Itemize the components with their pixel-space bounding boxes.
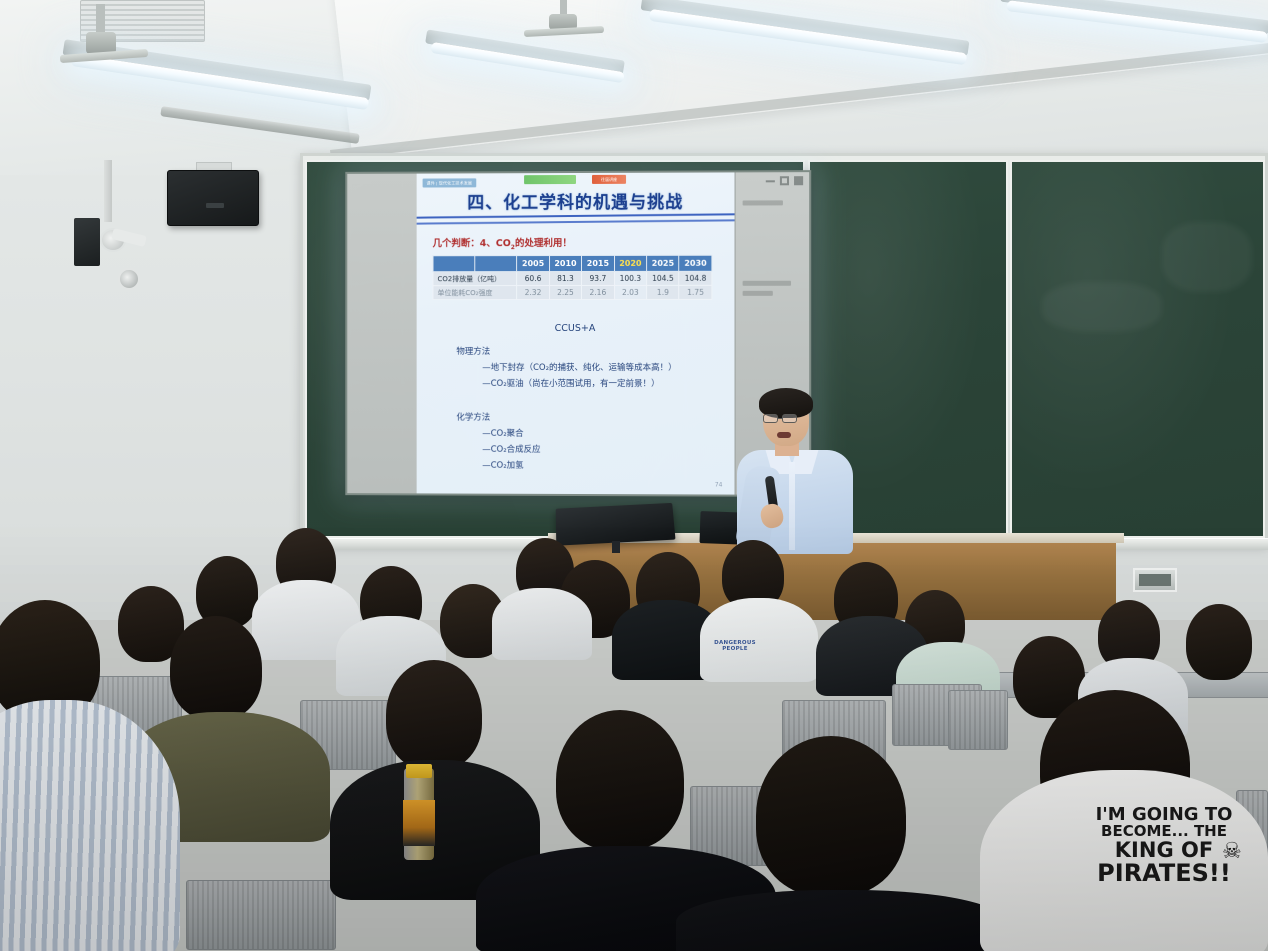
slide-red-badge: 往届讲座: [592, 175, 626, 184]
physical-methods-item-2: —CO₂驱油（尚在小范围试用，有一定前景！）: [482, 377, 659, 389]
table-header-2030: 2030: [679, 255, 712, 271]
student-torso: [676, 890, 1006, 951]
student-head: [1186, 604, 1252, 680]
slide-page-number: 74: [715, 481, 723, 488]
minimize-icon[interactable]: [766, 180, 775, 182]
table-cell: 2.03: [614, 285, 647, 299]
table-cell: 104.5: [647, 271, 680, 285]
slide-subtitle-tail: 的处理利用！: [515, 238, 572, 249]
table-header-2020: 2020: [614, 255, 647, 271]
security-camera: [74, 218, 100, 266]
table-cell: 2.25: [549, 285, 581, 299]
chalkboard-panel: [1010, 160, 1265, 538]
student-head: [386, 660, 482, 770]
chemical-methods-item-1: —CO₂聚合: [482, 427, 523, 439]
chemical-methods-heading: 化学方法: [456, 411, 490, 423]
student-head: [170, 616, 262, 720]
table-row-label-intensity: 单位能耗CO₂强度: [433, 286, 517, 300]
eyeglasses-icon: [782, 414, 797, 423]
physical-methods-item-1: —地下封存（CO₂的捕获、纯化、运输等成本高！）: [482, 361, 677, 373]
table-corner-cell: [433, 256, 475, 272]
slide-course-badge-label: 课件 | 现代化工技术发展: [427, 180, 473, 186]
table-cell: 100.3: [614, 271, 647, 285]
window-controls[interactable]: [766, 176, 803, 185]
slide-green-banner: [524, 175, 576, 184]
close-icon[interactable]: [794, 176, 803, 185]
table-cell: 81.3: [549, 271, 581, 285]
table-header-2025: 2025: [647, 255, 680, 271]
shirt-text-line4: PIRATES!!: [1066, 861, 1262, 885]
monitor-stand: [612, 541, 620, 553]
student-torso: [492, 588, 592, 660]
bottle-label: [403, 800, 435, 846]
eyeglasses-bridge: [778, 418, 783, 419]
presentation-slide: 课件 | 现代化工技术发展 往届讲座 四、化工学科的机遇与挑战 几个判断：4、C…: [417, 172, 735, 494]
maximize-icon[interactable]: [780, 176, 789, 185]
table-header-2005: 2005: [517, 256, 549, 272]
slide-course-badge: 课件 | 现代化工技术发展: [423, 178, 477, 187]
table-header-2015: 2015: [582, 255, 614, 271]
slide-subtitle-lead: 几个判断：4、CO: [433, 238, 511, 249]
ceiling-fan-rod: [96, 4, 105, 34]
eyeglasses-icon: [763, 414, 778, 423]
table-row: 单位能耗CO₂强度 2.32 2.25 2.16 2.03 1.9 1.75: [433, 285, 712, 299]
wall-display-panel: [1133, 568, 1177, 592]
panel-text-line: [743, 291, 773, 296]
table-cell: 2.16: [582, 285, 614, 299]
slide-subtitle: 几个判断：4、CO2的处理利用！: [433, 235, 572, 251]
bottle-cap: [406, 764, 432, 778]
podium-monitor: [556, 503, 676, 546]
student-head: [756, 736, 906, 896]
table-cell: 1.9: [647, 285, 680, 299]
table-cell: 2.32: [517, 286, 549, 300]
slide-divider-rule: [417, 213, 735, 218]
shirt-text-dangerous-people: DANGEROUS PEOPLE: [702, 640, 768, 652]
table-cell: 1.75: [679, 285, 712, 299]
physical-methods-heading: 物理方法: [456, 345, 490, 357]
table-header-row: 2005 2010 2015 2020 2025 2030: [433, 255, 712, 271]
lecture-chair: [948, 690, 1008, 750]
table-row: CO2排放量（亿吨） 60.6 81.3 93.7 100.3 104.5 10…: [433, 271, 712, 285]
table-header-2010: 2010: [549, 255, 581, 271]
skull-icon: ☠: [1222, 838, 1242, 864]
presenter-mouth: [777, 432, 791, 438]
table-corner-cell: [475, 256, 517, 272]
slide-divider-rule: [417, 219, 735, 224]
presenter: [735, 392, 855, 552]
table-row-label-emissions: CO2排放量（亿吨）: [433, 272, 517, 286]
student-head: [556, 710, 684, 850]
table-cell: 104.8: [679, 271, 712, 285]
shirt-text-line2: PEOPLE: [702, 646, 768, 652]
panel-text-line: [743, 200, 783, 205]
wall-speaker: [167, 170, 259, 226]
panel-text-line: [743, 281, 791, 286]
presentation-left-panel: [347, 174, 416, 494]
slide-red-badge-label: 往届讲座: [601, 176, 617, 182]
chemical-methods-item-2: —CO₂合成反应: [482, 443, 540, 455]
table-cell: 93.7: [582, 271, 614, 285]
co2-emissions-table: 2005 2010 2015 2020 2025 2030 CO2排放量（亿吨）…: [433, 255, 713, 300]
presenter-shirt-placket: [789, 462, 795, 550]
lecture-chair: [186, 880, 336, 950]
ccus-label: CCUS+A: [417, 323, 735, 334]
lecture-hall-photo: 课件 | 现代化工技术发展 往届讲座 四、化工学科的机遇与挑战 几个判断：4、C…: [0, 0, 1268, 951]
camera-lens-icon: [118, 268, 140, 290]
camera-mount-pole: [104, 160, 112, 222]
chemical-methods-item-3: —CO₂加氢: [482, 459, 523, 471]
slide-title: 四、化工学科的机遇与挑战: [417, 187, 735, 213]
table-cell: 60.6: [517, 272, 549, 286]
